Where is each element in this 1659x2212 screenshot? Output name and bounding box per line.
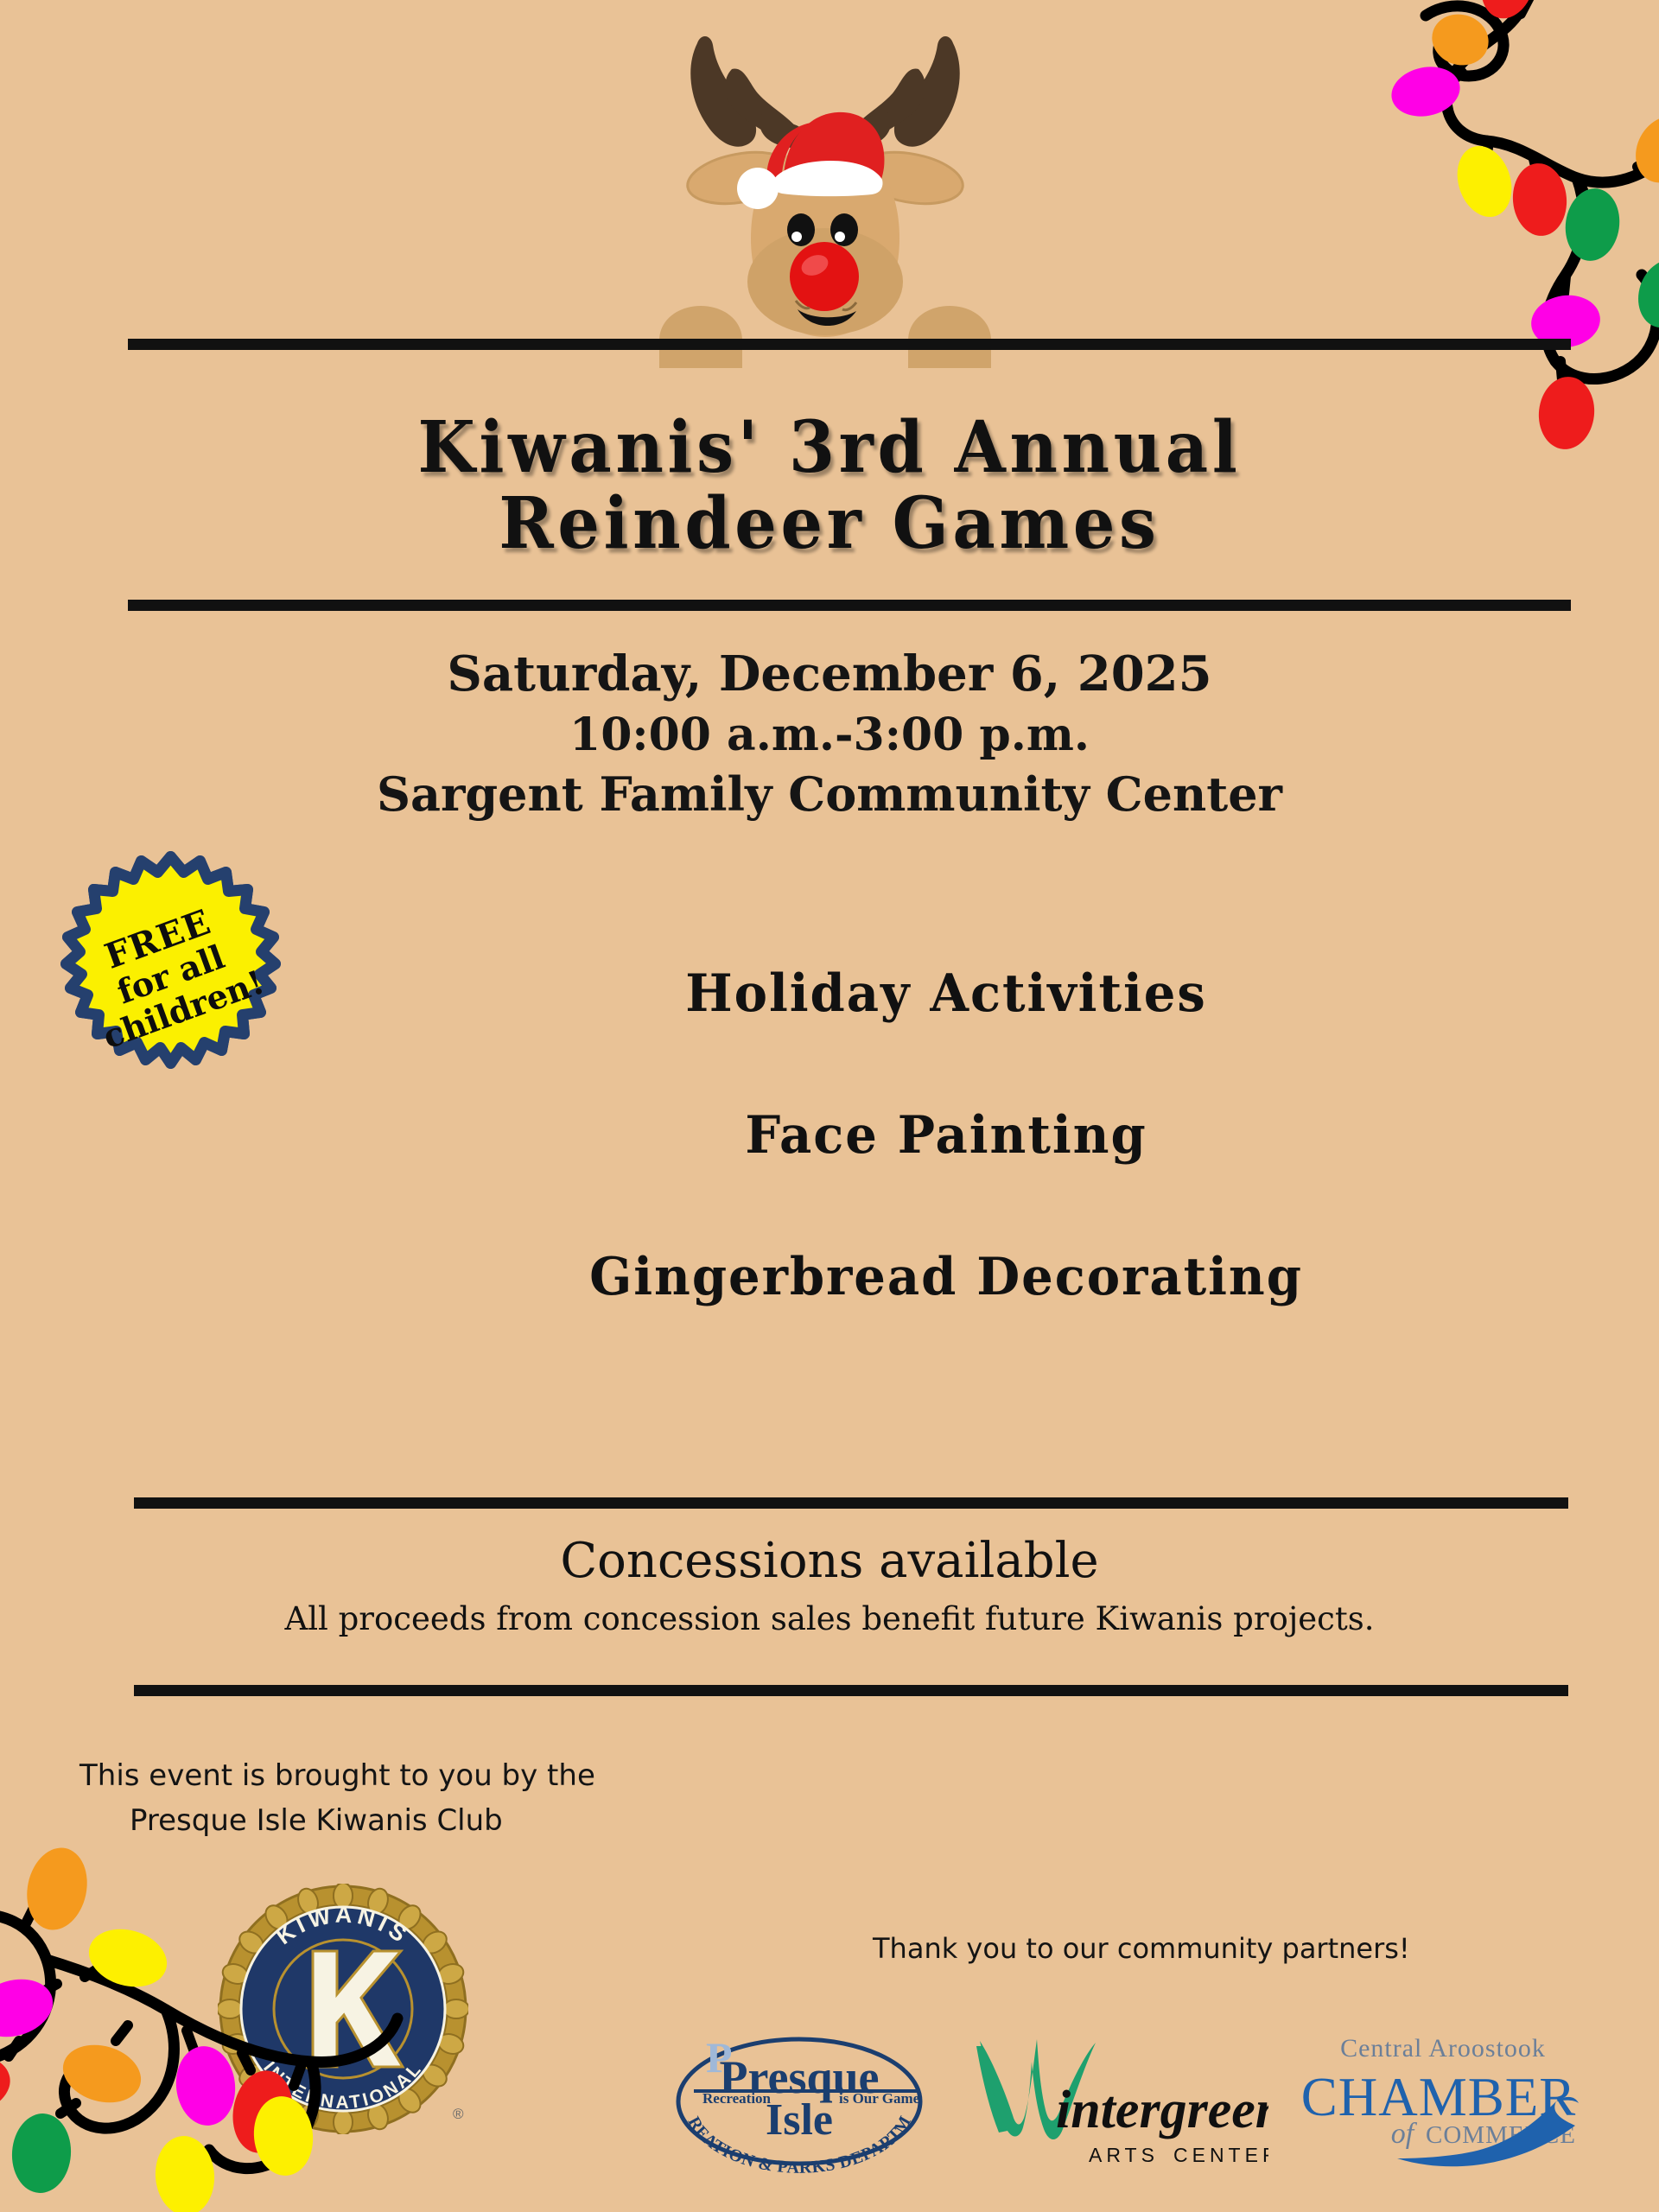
reindeer-illustration xyxy=(652,16,998,368)
wintergreen-sub-center: CENTER xyxy=(1173,2144,1268,2166)
divider-below-concessions xyxy=(134,1685,1568,1696)
registered-trademark-mark: ® xyxy=(453,2106,464,2122)
poster-canvas: Kiwanis' 3rd Annual Reindeer Games Satur… xyxy=(0,0,1659,2212)
brought-to-you-by: This event is brought to you by the Pres… xyxy=(79,1754,595,1843)
community-partners-thanks: Thank you to our community partners! xyxy=(873,1932,1410,1965)
chamber-line-central-aroostook: Central Aroostook xyxy=(1340,2034,1546,2063)
activity-gingerbread-decorating: Gingerbread Decorating xyxy=(312,1251,1581,1303)
event-venue: Sargent Family Community Center xyxy=(0,764,1659,824)
string-lights-top-right-decor xyxy=(1141,0,1659,474)
title-line-1: Kiwanis' 3rd Annual xyxy=(418,406,1242,489)
divider-above-title xyxy=(128,339,1571,350)
concessions-subtext: All proceeds from concession sales benef… xyxy=(0,1600,1659,1638)
divider-above-concessions xyxy=(134,1497,1568,1509)
free-for-children-badge: FREE for all children! xyxy=(48,851,294,1097)
wintergreen-script-text: intergreen xyxy=(1056,2081,1268,2139)
event-time: 10:00 a.m.-3:00 p.m. xyxy=(0,706,1659,765)
kiwanis-international-logo: KIWANIS INTERNATIONAL ® xyxy=(218,1884,468,2134)
title-line-2: Reindeer Games xyxy=(58,486,1601,563)
page-title: Kiwanis' 3rd Annual Reindeer Games xyxy=(58,410,1601,562)
chamber-line-chamber: CHAMBER xyxy=(1301,2067,1577,2127)
concessions-section: Concessions available All proceeds from … xyxy=(0,1534,1659,1638)
activity-face-painting: Face Painting xyxy=(312,1109,1581,1161)
presque-isle-tagline-left: Recreation xyxy=(702,2090,772,2107)
presque-isle-recreation-parks-logo: Presque P Isle Recreation is Our Game RE… xyxy=(670,2032,929,2183)
divider-below-title xyxy=(128,600,1571,611)
wintergreen-arts-center-logo: intergreen ARTS CENTER xyxy=(966,2031,1268,2186)
brought-line-2: Presque Isle Kiwanis Club xyxy=(79,1799,595,1844)
event-date: Saturday, December 6, 2025 xyxy=(0,644,1659,706)
central-aroostook-chamber-logo: Central Aroostook CHAMBER of COMMERCE xyxy=(1300,2022,1586,2182)
chamber-line-of: of xyxy=(1391,2118,1418,2150)
event-details: Saturday, December 6, 2025 10:00 a.m.-3:… xyxy=(0,644,1659,824)
presque-isle-tagline-right: is Our Game xyxy=(839,2090,920,2107)
activities-list: Holiday Activities Face Painting Gingerb… xyxy=(285,968,1607,1303)
presque-isle-word-isle: Isle xyxy=(766,2095,833,2145)
svg-text:P: P xyxy=(706,2033,733,2082)
activity-holiday-activities: Holiday Activities xyxy=(312,968,1581,1020)
wintergreen-sub-arts: ARTS xyxy=(1089,2144,1159,2166)
brought-line-1: This event is brought to you by the xyxy=(79,1758,595,1793)
concessions-heading: Concessions available xyxy=(0,1534,1659,1590)
